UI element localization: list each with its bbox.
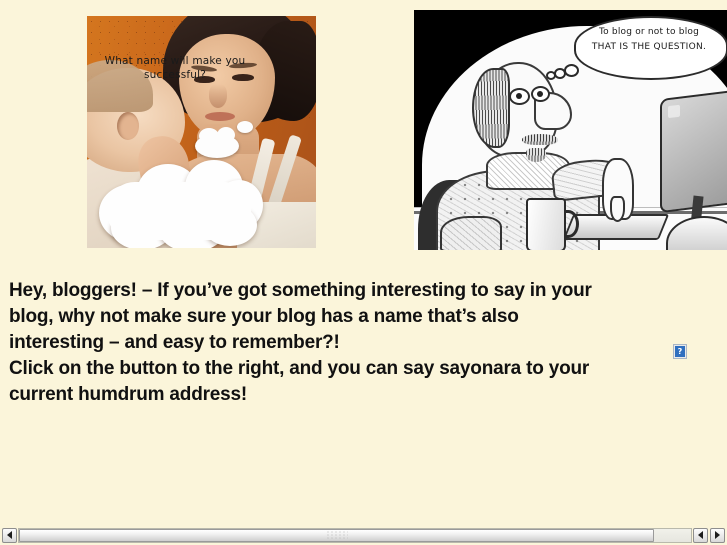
broken-image-glyph: ? [675,346,685,357]
horizontal-scrollbar[interactable] [0,525,727,545]
shakespeare-moustache [522,134,558,145]
triangle-left-icon [7,531,12,539]
promo-line-1: Hey, bloggers! – If you’ve got something… [9,278,649,304]
scrollbar-thumb[interactable] [19,529,654,542]
scrollbar-track[interactable] [18,528,692,543]
promo-line-5: current humdrum address! [9,382,649,408]
scrollbar-right-button-group [693,528,725,543]
promo-line-3: interesting – and easy to remember?! [9,330,649,356]
triangle-right-icon [715,531,720,539]
mother-and-baby-photo: What name will make you successful? [87,16,316,248]
balloon-line-2: THAT IS THE QUESTION. [576,41,722,54]
promo-line-2: blog, why not make sure your blog has a … [9,304,649,330]
scroll-left-button[interactable] [2,528,17,543]
scroll-left-button-secondary[interactable] [693,528,708,543]
document-content-area: What name will make you successful? [0,0,727,525]
shakespeare-goatee [526,148,546,162]
coffee-mug [526,198,566,250]
shakespeare-blogging-cartoon: To blog or not to blog THAT IS THE QUEST… [414,10,727,250]
scrollbar-grip-icon [326,531,348,540]
shakespeare-eye-left [509,88,530,105]
shakespeare-shoe [440,216,502,250]
computer-monitor [660,89,727,213]
promo-paragraph: Hey, bloggers! – If you’ve got something… [9,278,649,408]
shakespeare-eye-right [531,86,550,102]
scroll-right-button[interactable] [710,528,725,543]
broken-image-placeholder-icon[interactable]: ? [673,344,687,359]
thought-bubble-line-1: What name will make you [105,55,246,67]
mother-lips [205,112,235,121]
promo-line-4: Click on the button to the right, and yo… [9,356,649,382]
thought-bubble-dot-medium [195,134,239,158]
page-root: What name will make you successful? [0,0,727,545]
scrollbar-left-button-group [2,528,17,543]
thought-bubble-line-2: successful? [144,69,206,81]
thought-balloon-text: To blog or not to blog THAT IS THE QUEST… [576,26,722,54]
mother-face [179,34,275,138]
thought-bubble-text: What name will make you successful? [97,54,253,82]
thought-bubble-dot-medium [564,64,579,77]
shakespeare-hair [472,68,510,148]
triangle-left-icon [698,531,703,539]
shakespeare-finger [610,196,625,222]
thought-bubble-cloud [91,158,265,248]
mother-nose [209,84,227,108]
cloud-body [107,182,251,240]
baby-ear [117,112,139,140]
thought-bubble-dot-small [237,121,253,133]
balloon-line-1: To blog or not to blog [576,26,722,38]
